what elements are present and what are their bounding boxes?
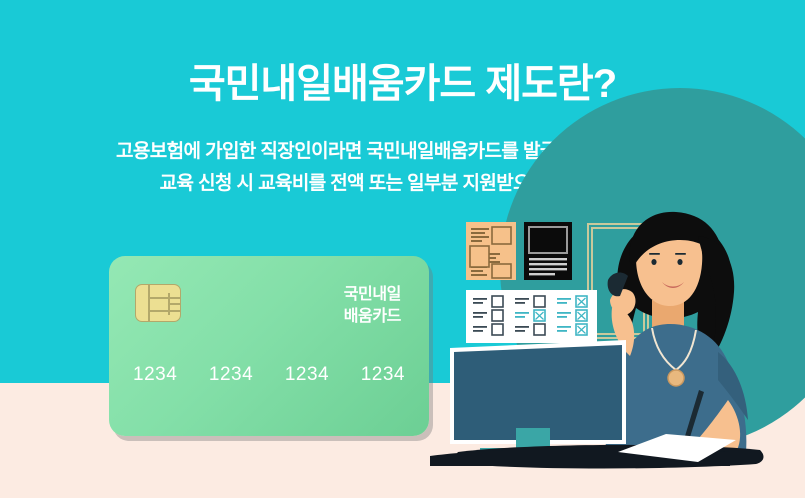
card-brand-name: 국민내일 배움카드	[344, 284, 401, 328]
card-brand-line-1: 국민내일	[344, 284, 401, 306]
card-chip-icon	[135, 284, 181, 322]
card-brand-line-2: 배움카드	[344, 306, 401, 328]
card-number-group-2: 1234	[209, 364, 253, 386]
learning-card-graphic: 국민내일 배움카드 1234 1234 1234 1234	[109, 256, 429, 436]
computer-monitor	[450, 340, 626, 458]
poster-orange	[466, 222, 516, 280]
office-illustration	[430, 0, 805, 498]
card-number-group-1: 1234	[133, 364, 177, 386]
poster-black	[524, 222, 572, 280]
card-number-group-3: 1234	[285, 364, 329, 386]
checklist-board	[466, 290, 597, 343]
card-number-group-4: 1234	[361, 364, 405, 386]
promo-banner: 국민내일배움카드 제도란? 고용보험에 가입한 직장인이라면 국민내일배움카드를…	[0, 0, 805, 498]
card-number-row: 1234 1234 1234 1234	[133, 364, 405, 386]
